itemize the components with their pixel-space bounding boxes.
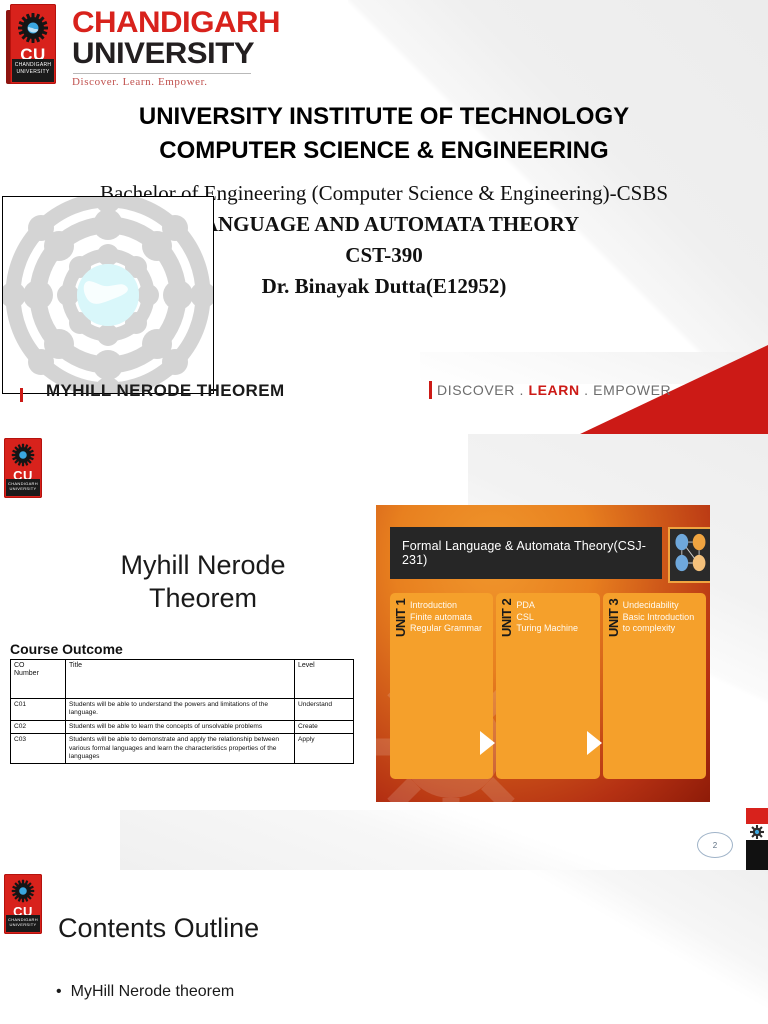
cu-logo: CU CHANDIGARH UNIVERSITY <box>4 438 42 498</box>
slide3-title: Contents Outline <box>58 912 259 944</box>
logo-card: CU CHANDIGARH UNIVERSITY <box>10 4 56 84</box>
cell-title: Students will be able to demonstrate and… <box>66 734 295 764</box>
slide2-title-line1: Myhill Nerode <box>58 549 348 582</box>
cu-logo: CU CHANDIGARH UNIVERSITY <box>4 874 42 934</box>
contents-outline-list: MyHill Nerode theorem <box>56 980 234 1004</box>
cell-title: Students will be able to understand the … <box>66 699 295 721</box>
unit-column: UNIT 3 Undecidability Basic Introduction… <box>603 593 706 779</box>
cell-level: Create <box>295 720 354 733</box>
logo-band-line2: UNIVERSITY <box>12 69 54 76</box>
cell-co: C01 <box>11 699 66 721</box>
th-co-line1: CO <box>14 662 25 669</box>
slide-page-number: 2 <box>697 832 733 858</box>
unit-column: UNIT 2 PDA CSL Turing Machine <box>496 593 599 779</box>
brand-divider <box>73 73 251 74</box>
automata-diagram-icon <box>670 529 710 577</box>
table-row: C01 Students will be able to understand … <box>11 699 354 721</box>
slide3-diagonal-gradient <box>528 870 768 1024</box>
table-row: C02 Students will be able to learn the c… <box>11 720 354 733</box>
cu-logo: CU CHANDIGARH UNIVERSITY <box>6 4 56 86</box>
unit-items: PDA CSL Turing Machine <box>513 599 578 779</box>
unit-arrow-icon <box>587 731 602 755</box>
th-co-line2: Number <box>14 670 39 677</box>
th-level: Level <box>295 660 354 699</box>
table-header-row: CO Number Title Level <box>11 660 354 699</box>
side-chip-black <box>746 840 768 870</box>
gear-globe-icon <box>11 443 35 467</box>
presentation-document: CU CHANDIGARH UNIVERSITY CHANDIGARH UNIV… <box>0 0 768 1024</box>
side-chip-gear <box>746 824 768 840</box>
gears-globe-svg <box>3 197 213 393</box>
logo-band-line2: UNIVERSITY <box>6 486 40 491</box>
tagline-learn: LEARN <box>528 382 579 398</box>
brand-name-line1: CHANDIGARH <box>72 8 446 38</box>
cell-co: C02 <box>11 720 66 733</box>
brand-name-line2: UNIVERSITY <box>72 38 446 70</box>
tagline-discover: DISCOVER <box>437 382 515 398</box>
slide2-title: Myhill Nerode Theorem <box>58 549 348 615</box>
unit-label: UNIT 2 <box>500 599 513 665</box>
preview-title-bar: Formal Language & Automata Theory(CSJ-23… <box>390 527 662 579</box>
slide1-heading: UNIVERSITY INSTITUTE OF TECHNOLOGY COMPU… <box>0 100 768 168</box>
unit-column: UNIT 1 Introduction Finite automata Regu… <box>390 593 493 779</box>
slide-3-contents-outline: CU CHANDIGARH UNIVERSITY Contents Outlin… <box>0 870 768 1024</box>
course-outcome-table: CO Number Title Level C01 Students will … <box>10 659 354 764</box>
brand-wordmark: CHANDIGARH UNIVERSITY Discover. Learn. E… <box>72 8 432 88</box>
logo-band-line2: UNIVERSITY <box>6 922 40 927</box>
discover-learn-empower-banner: DISCOVER . LEARN . EMPOWER <box>429 381 671 399</box>
brand-tagline: Discover. Learn. Empower. <box>72 76 432 88</box>
cell-level: Apply <box>295 734 354 764</box>
course-outcome-heading: Course Outcome <box>10 641 123 657</box>
logo-band: CHANDIGARH UNIVERSITY <box>12 59 54 82</box>
slide1-heading-line1: UNIVERSITY INSTITUTE OF TECHNOLOGY <box>139 103 629 130</box>
logo-card: CU CHANDIGARH UNIVERSITY <box>4 874 42 934</box>
th-co-number: CO Number <box>11 660 66 699</box>
tagline-empower: EMPOWER <box>593 382 671 398</box>
preview-thumbnail <box>668 527 710 583</box>
logo-card: CU CHANDIGARH UNIVERSITY <box>4 438 42 498</box>
unit-arrow-icon <box>480 731 495 755</box>
tagline-sep-1: . <box>519 382 524 398</box>
cell-level: Understand <box>295 699 354 721</box>
th-title: Title <box>66 660 295 699</box>
table-row: C03 Students will be able to demonstrate… <box>11 734 354 764</box>
gear-globe-icon <box>11 879 35 903</box>
list-item: MyHill Nerode theorem <box>56 980 234 1004</box>
slide2-bottom-gradient <box>120 810 768 870</box>
unit-items: Undecidability Basic Introduction to com… <box>620 599 702 779</box>
gears-globe-graphic <box>2 196 214 394</box>
cell-title: Students will be able to learn the conce… <box>66 720 295 733</box>
slide2-title-line2: Theorem <box>58 582 348 615</box>
slide1-topic-title: MYHILL NERODE THEOREM <box>46 381 285 401</box>
slide1-red-accent-bar <box>20 388 23 402</box>
course-units-preview-card: Formal Language & Automata Theory(CSJ-23… <box>376 505 710 802</box>
slide-1-title: CU CHANDIGARH UNIVERSITY CHANDIGARH UNIV… <box>0 0 768 434</box>
unit-label: UNIT 3 <box>607 599 620 665</box>
logo-band-line1: CHANDIGARH <box>12 62 54 69</box>
gear-globe-icon <box>17 12 49 44</box>
tagline-sep-2: . <box>584 382 589 398</box>
unit-items: Introduction Finite automata Regular Gra… <box>407 599 482 779</box>
gear-icon <box>750 825 764 839</box>
unit-label: UNIT 1 <box>394 599 407 665</box>
preview-course-title: Formal Language & Automata Theory(CSJ-23… <box>390 539 662 567</box>
cell-co: C03 <box>11 734 66 764</box>
logo-band: CHANDIGARH UNIVERSITY <box>6 479 40 496</box>
slide1-heading-line2: COMPUTER SCIENCE & ENGINEERING <box>0 134 768 168</box>
logo-band: CHANDIGARH UNIVERSITY <box>6 915 40 932</box>
unit-columns: UNIT 1 Introduction Finite automata Regu… <box>390 593 706 779</box>
